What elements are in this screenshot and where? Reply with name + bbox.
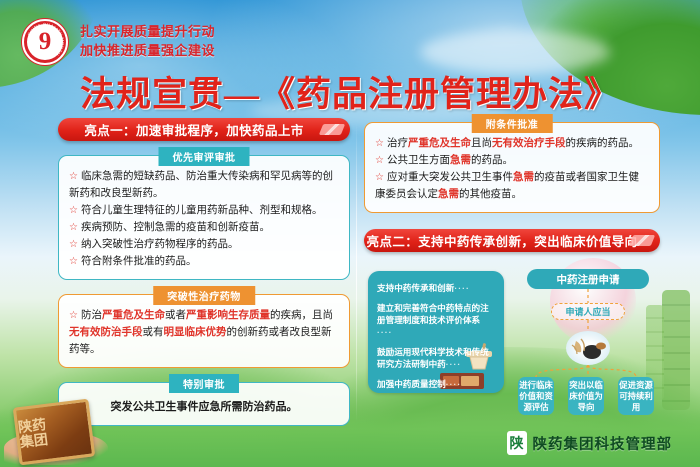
breakthrough-therapy-badge: 突破性治疗药物 xyxy=(153,286,255,305)
star-icon: ☆ xyxy=(69,171,78,182)
seal-glyph: 9 xyxy=(39,29,52,54)
list-item: ☆治疗严重危及生命且尚无有效治疗手段的疾病的药品。 xyxy=(375,135,649,152)
tcm-flow-area: 支持中药传承和创新···· 建立和完善符合中药特点的注册管理制度和技术评价体系·… xyxy=(364,265,660,435)
seal-stamp-decoration: 陕药集团 xyxy=(4,399,108,465)
herbs-icon xyxy=(566,331,610,365)
star-icon: ☆ xyxy=(69,256,78,267)
breakthrough-therapy-card: 突破性治疗药物 ☆防治严重危及生命或者严重影响生存质量的疾病，且尚无有效防治手段… xyxy=(58,294,350,368)
slogan-line-1: 扎实开展质量提升行动 xyxy=(80,22,215,41)
star-icon: ☆ xyxy=(69,239,78,250)
column-divider xyxy=(356,122,357,422)
poster-root: 9 CHINA QUALITY MONTH 扎实开展质量提升行动 加快推进质量强… xyxy=(0,0,700,467)
priority-review-list: ☆临床急需的短缺药品、防治重大传染病和罕见病等的创新药和改良型新药。 ☆符合儿童… xyxy=(69,168,339,270)
star-icon: ☆ xyxy=(69,310,78,321)
tcm-registration-flow: 中药注册申请 申请人应当 进行临床价值和资源评估 突出以临床价值为导向 促进资源… xyxy=(516,265,660,435)
list-item: ☆纳入突破性治疗药物程序的药品。 xyxy=(69,236,339,253)
page-title: 法规宣贯—《药品注册管理办法》 xyxy=(0,66,700,117)
flow-leaf-node: 进行临床价值和资源评估 xyxy=(518,377,554,415)
tcm-measure-item: 加强中药质量控制···· xyxy=(377,378,495,390)
tcm-measure-item: 支持中药传承和创新···· xyxy=(377,282,495,294)
ribbon-tail-icon xyxy=(629,235,655,246)
flow-leaf-node: 突出以临床价值为导向 xyxy=(568,377,604,415)
slogan-block: 扎实开展质量提升行动 加快推进质量强企建设 xyxy=(80,22,215,60)
priority-review-badge: 优先审评审批 xyxy=(159,147,250,166)
breakthrough-therapy-text: ☆防治严重危及生命或者严重影响生存质量的疾病，且尚无有效防治手段或有明显临床优势… xyxy=(69,307,339,358)
tcm-measure-item: 建立和完善符合中药特点的注册管理制度和技术评价体系···· xyxy=(377,302,495,338)
footer-brand: 陕 陕药集团科技管理部 xyxy=(507,431,673,455)
tcm-measures-panel: 支持中药传承和创新···· 建立和完善符合中药特点的注册管理制度和技术评价体系·… xyxy=(368,271,504,393)
flow-sub-node: 申请人应当 xyxy=(551,303,625,320)
list-item: ☆符合儿童生理特征的儿童用药新品种、剂型和规格。 xyxy=(69,202,339,219)
highlight-two-ribbon: 亮点二：支持中药传承创新，突出临床价值导向 xyxy=(364,229,660,252)
highlight-one-label: 亮点一：加速审批程序，加快药品上市 xyxy=(84,120,303,139)
list-item: ☆公共卫生方面急需的药品。 xyxy=(375,152,649,169)
right-column: 附条件批准 ☆治疗严重危及生命且尚无有效治疗手段的疾病的药品。 ☆公共卫生方面急… xyxy=(364,118,660,435)
star-icon: ☆ xyxy=(375,138,384,149)
special-approval-text: 突发公共卫生事件应急所需防治药品。 xyxy=(69,395,339,416)
list-item: ☆符合附条件批准的药品。 xyxy=(69,253,339,270)
star-icon: ☆ xyxy=(69,222,78,233)
ribbon-tail-icon xyxy=(319,124,345,135)
china-quality-month-seal-icon: 9 xyxy=(22,19,68,65)
highlight-one-ribbon: 亮点一：加速审批程序，加快药品上市 xyxy=(58,118,350,141)
priority-review-card: 优先审评审批 ☆临床急需的短缺药品、防治重大传染病和罕见病等的创新药和改良型新药… xyxy=(58,155,350,280)
list-item: ☆应对重大突发公共卫生事件急需的疫苗或者国家卫生健康委员会认定急需的其他疫苗。 xyxy=(375,169,649,203)
flow-root-node: 中药注册申请 xyxy=(527,269,649,289)
tcm-measure-item: 鼓励运用现代科学技术和传统研究方法研制中药···· xyxy=(377,346,495,370)
flow-leaf-node: 促进资源可持续利用 xyxy=(618,377,654,415)
star-icon: ☆ xyxy=(375,172,384,183)
left-column: 亮点一：加速审批程序，加快药品上市 优先审评审批 ☆临床急需的短缺药品、防治重大… xyxy=(58,118,350,426)
star-icon: ☆ xyxy=(375,155,384,166)
list-item: ☆疾病预防、控制急需的疫苗和创新疫苗。 xyxy=(69,219,339,236)
conditional-approval-badge: 附条件批准 xyxy=(472,114,553,133)
stamp-face: 陕药集团 xyxy=(13,399,96,466)
brand-logo-icon: 陕 xyxy=(507,431,527,455)
star-icon: ☆ xyxy=(69,205,78,216)
brand-name: 陕药集团科技管理部 xyxy=(533,433,673,454)
ginseng-icon xyxy=(568,333,608,363)
highlight-two-label: 亮点二：支持中药传承创新，突出临床价值导向 xyxy=(367,231,638,250)
special-approval-badge: 特别审批 xyxy=(169,374,239,393)
slogan-line-2: 加快推进质量强企建设 xyxy=(80,41,215,60)
list-item: ☆临床急需的短缺药品、防治重大传染病和罕见病等的创新药和改良型新药。 xyxy=(69,168,339,202)
conditional-approval-list: ☆治疗严重危及生命且尚无有效治疗手段的疾病的药品。 ☆公共卫生方面急需的药品。 … xyxy=(375,135,649,203)
conditional-approval-card: 附条件批准 ☆治疗严重危及生命且尚无有效治疗手段的疾病的药品。 ☆公共卫生方面急… xyxy=(364,122,660,213)
